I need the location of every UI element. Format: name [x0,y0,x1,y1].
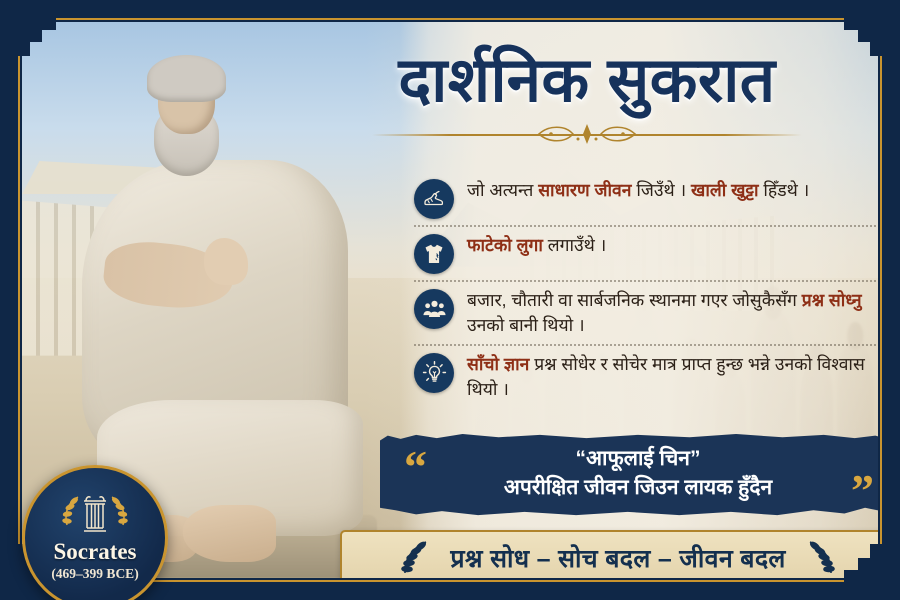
quote-text: “आफूलाई चिन” अपरीक्षित जीवन जिउन लायक हु… [440,445,836,503]
lightbulb-icon [414,353,454,393]
people-group-icon [414,289,454,329]
quote-close-mark: ” [851,468,874,514]
badge-dates: (469–399 BCE) [51,566,138,582]
poster-root: दार्शनिक सुकरात [0,0,900,600]
tagline-text: प्रश्न सोध – सोच बदल – जीवन बदल [450,541,785,575]
socrates-foot-right [183,505,276,562]
laurel-branch-icon [396,538,436,578]
laurel-branch-icon [800,538,840,578]
list-item-text: साँचो ज्ञान प्रश्न सोधेर र सोचेर मात्र प… [467,351,878,402]
ornamental-flourish-icon [527,123,647,145]
list-item: जो अत्यन्त साधारण जीवन जिउँथे । खाली खुट… [414,172,878,225]
greek-column-with-laurel-icon [58,491,132,537]
quote-line-1: “आफूलाई चिन” [440,445,836,474]
title-divider [372,123,802,145]
socrates-hair [147,55,226,102]
list-item: बजार, चौतारी वा सार्बजनिक स्थानमा गएर जो… [414,280,878,344]
socrates-badge: Socrates (469–399 BCE) [22,465,168,600]
quote-panel: “ “आफूलाई चिन” अपरीक्षित जीवन जिउन लायक … [380,434,878,516]
tshirt-icon [414,234,454,274]
list-item-text: जो अत्यन्त साधारण जीवन जिउँथे । खाली खुट… [467,177,809,203]
list-item-text: फाटेको लुगा लगाउँथे । [467,232,606,258]
list-item-text: बजार, चौतारी वा सार्बजनिक स्थानमा गएर जो… [467,287,878,338]
tagline-banner: प्रश्न सोध – सोच बदल – जीवन बदल [340,530,878,578]
socrates-hand [204,238,247,285]
list-item: साँचो ज्ञान प्रश्न सोधेर र सोचेर मात्र प… [414,344,878,408]
title-block: दार्शनिक सुकरात [272,48,878,145]
page-title: दार्शनिक सुकरात [272,48,878,113]
list-item: फाटेको लुगा लगाउँथे । [414,225,878,280]
fact-list: जो अत्यन्त साधारण जीवन जिउँथे । खाली खुट… [414,172,878,407]
quote-line-2: अपरीक्षित जीवन जिउन लायक हुँदैन [440,474,836,503]
shoe-icon [414,179,454,219]
badge-name: Socrates [53,539,136,565]
quote-open-mark: “ [404,444,427,490]
